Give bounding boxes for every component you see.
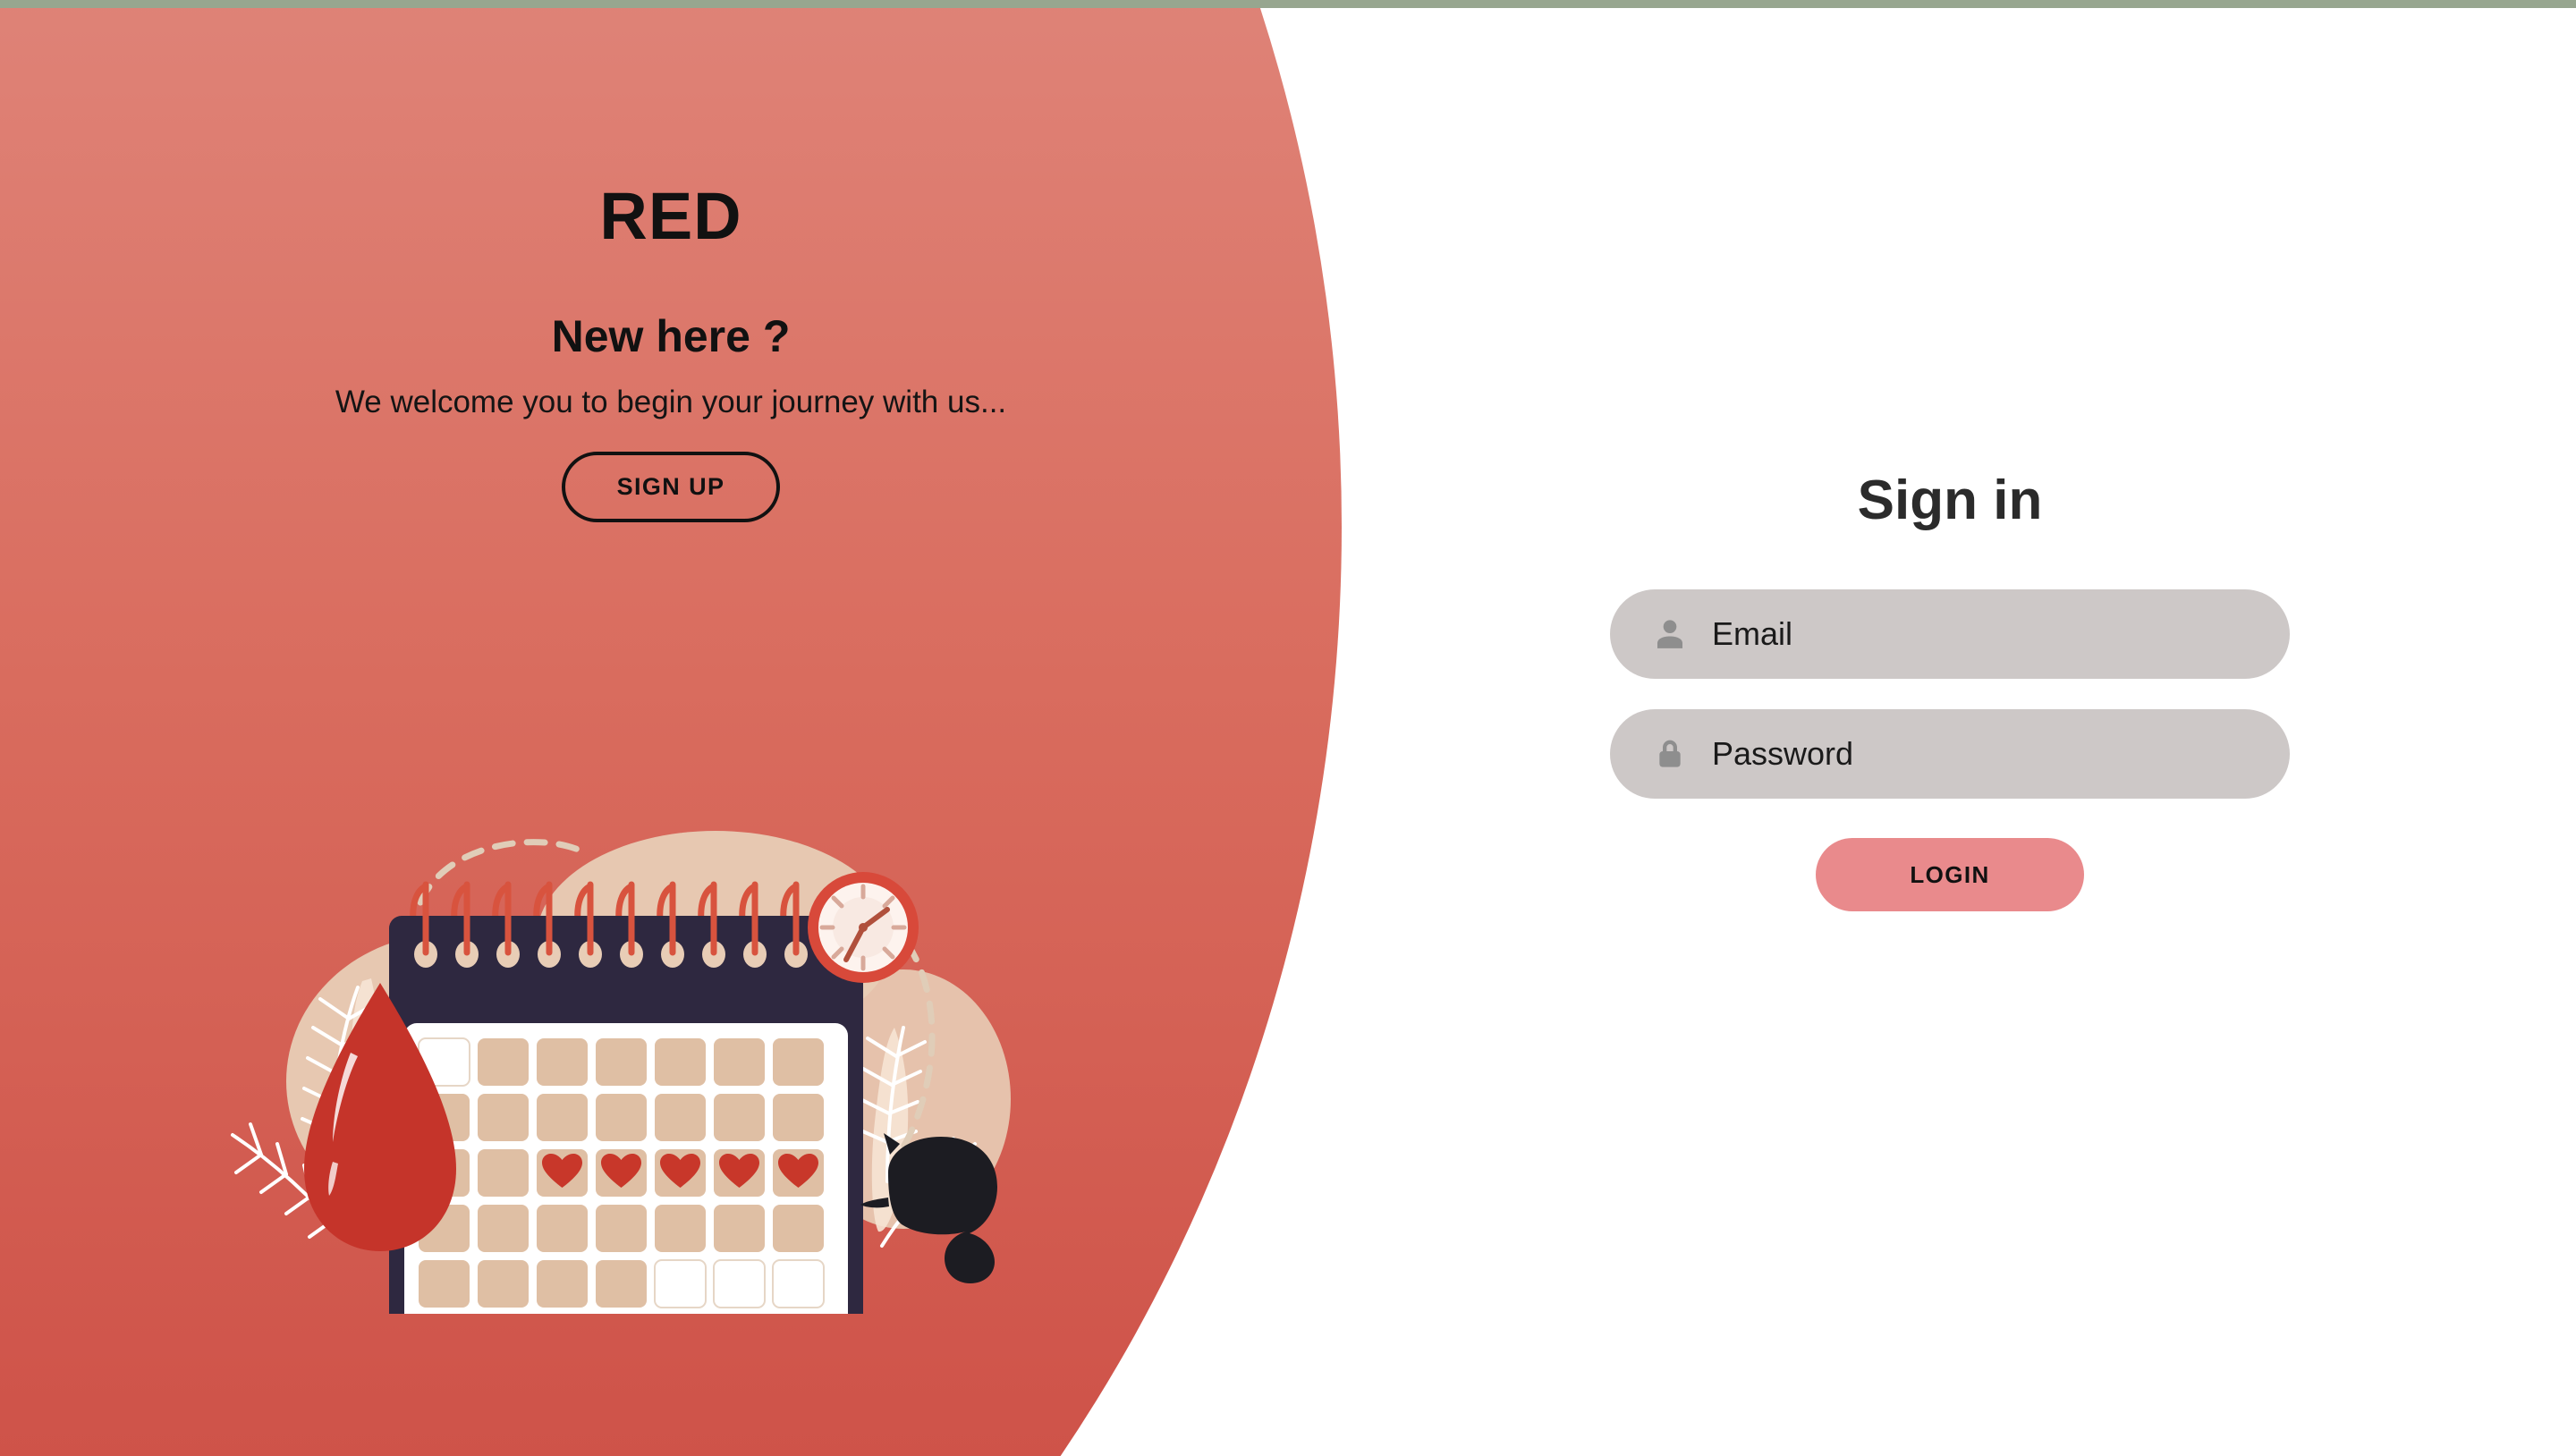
new-here-heading: New here ? (0, 314, 1342, 359)
brand-title: RED (0, 183, 1342, 250)
person-icon (1649, 614, 1690, 655)
signin-panel: Sign in Email Password LOGIN (1601, 473, 2299, 911)
welcome-subtext: We welcome you to begin your journey wit… (0, 384, 1342, 421)
email-placeholder: Email (1712, 618, 1792, 650)
signup-button[interactable]: SIGN UP (562, 452, 781, 522)
password-placeholder: Password (1712, 738, 1853, 770)
period-tracker-illustration (179, 768, 1029, 1314)
signin-title: Sign in (1601, 473, 2299, 529)
login-page: RED New here ? We welcome you to begin y… (0, 0, 2576, 1456)
email-field[interactable]: Email (1610, 589, 2290, 679)
left-promo-panel: RED New here ? We welcome you to begin y… (0, 8, 1342, 522)
lock-icon (1649, 733, 1690, 775)
login-button[interactable]: LOGIN (1816, 838, 2084, 911)
password-field[interactable]: Password (1610, 709, 2290, 799)
login-button-wrapper: LOGIN (1601, 838, 2299, 911)
signup-button-wrapper: SIGN UP (0, 452, 1342, 522)
